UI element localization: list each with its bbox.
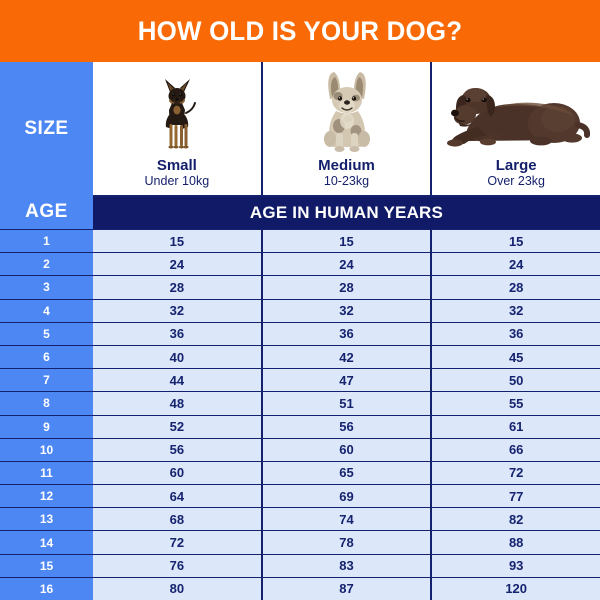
list-item: 10 [0, 438, 93, 461]
data-rows: 15 15 15 24 24 24 28 28 28 32 32 32 [93, 229, 600, 600]
cell-small: 68 [93, 508, 261, 530]
age-value: 10 [40, 443, 53, 457]
cell-small: 52 [93, 416, 261, 438]
table-row: 36 36 36 [93, 322, 600, 345]
list-item: 8 [0, 391, 93, 414]
cell-medium: 47 [261, 369, 431, 391]
size-name: Medium [318, 157, 375, 174]
table-row: 52 56 61 [93, 415, 600, 438]
page-title: HOW OLD IS YOUR DOG? [138, 18, 462, 45]
table-row: 68 74 82 [93, 507, 600, 530]
age-value: 3 [43, 280, 50, 294]
table-row: 28 28 28 [93, 275, 600, 298]
cell-large: 66 [430, 439, 600, 461]
list-item: 14 [0, 530, 93, 553]
cell-small: 76 [93, 555, 261, 577]
age-value: 6 [43, 350, 50, 364]
table-row: 24 24 24 [93, 252, 600, 275]
table-row: 72 78 88 [93, 530, 600, 553]
size-weight: Over 23kg [487, 174, 545, 190]
age-value: 14 [40, 536, 53, 550]
size-header-row: Small Under 10kg [93, 62, 600, 195]
age-value: 5 [43, 327, 50, 341]
cell-medium: 74 [261, 508, 431, 530]
cell-small: 36 [93, 323, 261, 345]
size-weight: Under 10kg [145, 174, 210, 190]
age-in-human-years-band: AGE IN HUMAN YEARS [93, 195, 600, 229]
list-item: 2 [0, 252, 93, 275]
cell-large: 61 [430, 416, 600, 438]
list-item: 7 [0, 368, 93, 391]
row-label-column: SIZE AGE 1 2 3 4 5 6 7 8 9 10 11 12 13 1… [0, 62, 93, 600]
age-value: 1 [43, 234, 50, 248]
cell-medium: 28 [261, 276, 431, 298]
cell-large: 72 [430, 462, 600, 484]
list-item: 11 [0, 461, 93, 484]
cell-large: 15 [430, 230, 600, 252]
list-item: 16 [0, 577, 93, 600]
cell-large: 93 [430, 555, 600, 577]
age-number-list: 1 2 3 4 5 6 7 8 9 10 11 12 13 14 15 16 [0, 229, 93, 600]
cell-medium: 51 [261, 392, 431, 414]
table-row: 80 87 120 [93, 577, 600, 600]
size-name: Small [157, 157, 197, 174]
cell-small: 40 [93, 346, 261, 368]
age-value: 9 [43, 420, 50, 434]
age-value: 4 [43, 304, 50, 318]
table-row: 76 83 93 [93, 554, 600, 577]
age-label-cell: AGE [0, 195, 93, 229]
cell-medium: 32 [261, 300, 431, 322]
cell-medium: 15 [261, 230, 431, 252]
cell-large: 28 [430, 276, 600, 298]
size-label-cell: SIZE [0, 62, 93, 195]
list-item: 5 [0, 322, 93, 345]
table-row: 44 47 50 [93, 368, 600, 391]
cell-medium: 42 [261, 346, 431, 368]
size-column-large: Large Over 23kg [430, 62, 600, 195]
list-item: 15 [0, 554, 93, 577]
cell-large: 88 [430, 531, 600, 553]
list-item: 6 [0, 345, 93, 368]
list-item: 9 [0, 415, 93, 438]
table-body: SIZE AGE 1 2 3 4 5 6 7 8 9 10 11 12 13 1… [0, 62, 600, 600]
cell-medium: 36 [261, 323, 431, 345]
table-row: 60 65 72 [93, 461, 600, 484]
cell-small: 80 [93, 578, 261, 600]
cell-small: 60 [93, 462, 261, 484]
cell-small: 28 [93, 276, 261, 298]
cell-medium: 60 [261, 439, 431, 461]
cell-large: 32 [430, 300, 600, 322]
cell-medium: 87 [261, 578, 431, 600]
age-value: 7 [43, 373, 50, 387]
cell-medium: 65 [261, 462, 431, 484]
cell-small: 32 [93, 300, 261, 322]
medium-dog-french-bulldog-icon [263, 62, 431, 157]
table-row: 15 15 15 [93, 229, 600, 252]
cell-small: 44 [93, 369, 261, 391]
table-row: 48 51 55 [93, 391, 600, 414]
age-value: 13 [40, 512, 53, 526]
cell-large: 36 [430, 323, 600, 345]
cell-large: 50 [430, 369, 600, 391]
title-banner: HOW OLD IS YOUR DOG? [0, 0, 600, 62]
cell-large: 45 [430, 346, 600, 368]
table-row: 40 42 45 [93, 345, 600, 368]
list-item: 12 [0, 484, 93, 507]
list-item: 4 [0, 299, 93, 322]
age-band-label: AGE IN HUMAN YEARS [250, 203, 443, 223]
cell-large: 77 [430, 485, 600, 507]
table-row: 56 60 66 [93, 438, 600, 461]
cell-medium: 69 [261, 485, 431, 507]
cell-small: 56 [93, 439, 261, 461]
cell-large: 120 [430, 578, 600, 600]
cell-small: 24 [93, 253, 261, 275]
age-label: AGE [25, 201, 68, 223]
cell-medium: 24 [261, 253, 431, 275]
cell-medium: 56 [261, 416, 431, 438]
dog-age-infographic: HOW OLD IS YOUR DOG? SIZE AGE 1 2 3 4 5 … [0, 0, 600, 600]
cell-large: 82 [430, 508, 600, 530]
age-value: 16 [40, 582, 53, 596]
size-column-medium: Medium 10-23kg [261, 62, 431, 195]
size-name: Large [496, 157, 537, 174]
cell-small: 48 [93, 392, 261, 414]
age-value: 11 [40, 466, 53, 480]
cell-small: 15 [93, 230, 261, 252]
cell-large: 55 [430, 392, 600, 414]
large-dog-labrador-icon [432, 62, 600, 157]
size-column-small: Small Under 10kg [93, 62, 261, 195]
cell-small: 72 [93, 531, 261, 553]
cell-small: 64 [93, 485, 261, 507]
cell-medium: 78 [261, 531, 431, 553]
age-value: 8 [43, 396, 50, 410]
table-row: 32 32 32 [93, 299, 600, 322]
list-item: 1 [0, 229, 93, 252]
age-value: 15 [40, 559, 53, 573]
size-and-data-column: Small Under 10kg [93, 62, 600, 600]
size-weight: 10-23kg [324, 174, 369, 190]
cell-large: 24 [430, 253, 600, 275]
age-value: 12 [40, 489, 53, 503]
list-item: 13 [0, 507, 93, 530]
size-label: SIZE [24, 118, 68, 140]
table-row: 64 69 77 [93, 484, 600, 507]
small-dog-chihuahua-icon [93, 62, 261, 157]
age-value: 2 [43, 257, 50, 271]
cell-medium: 83 [261, 555, 431, 577]
list-item: 3 [0, 275, 93, 298]
